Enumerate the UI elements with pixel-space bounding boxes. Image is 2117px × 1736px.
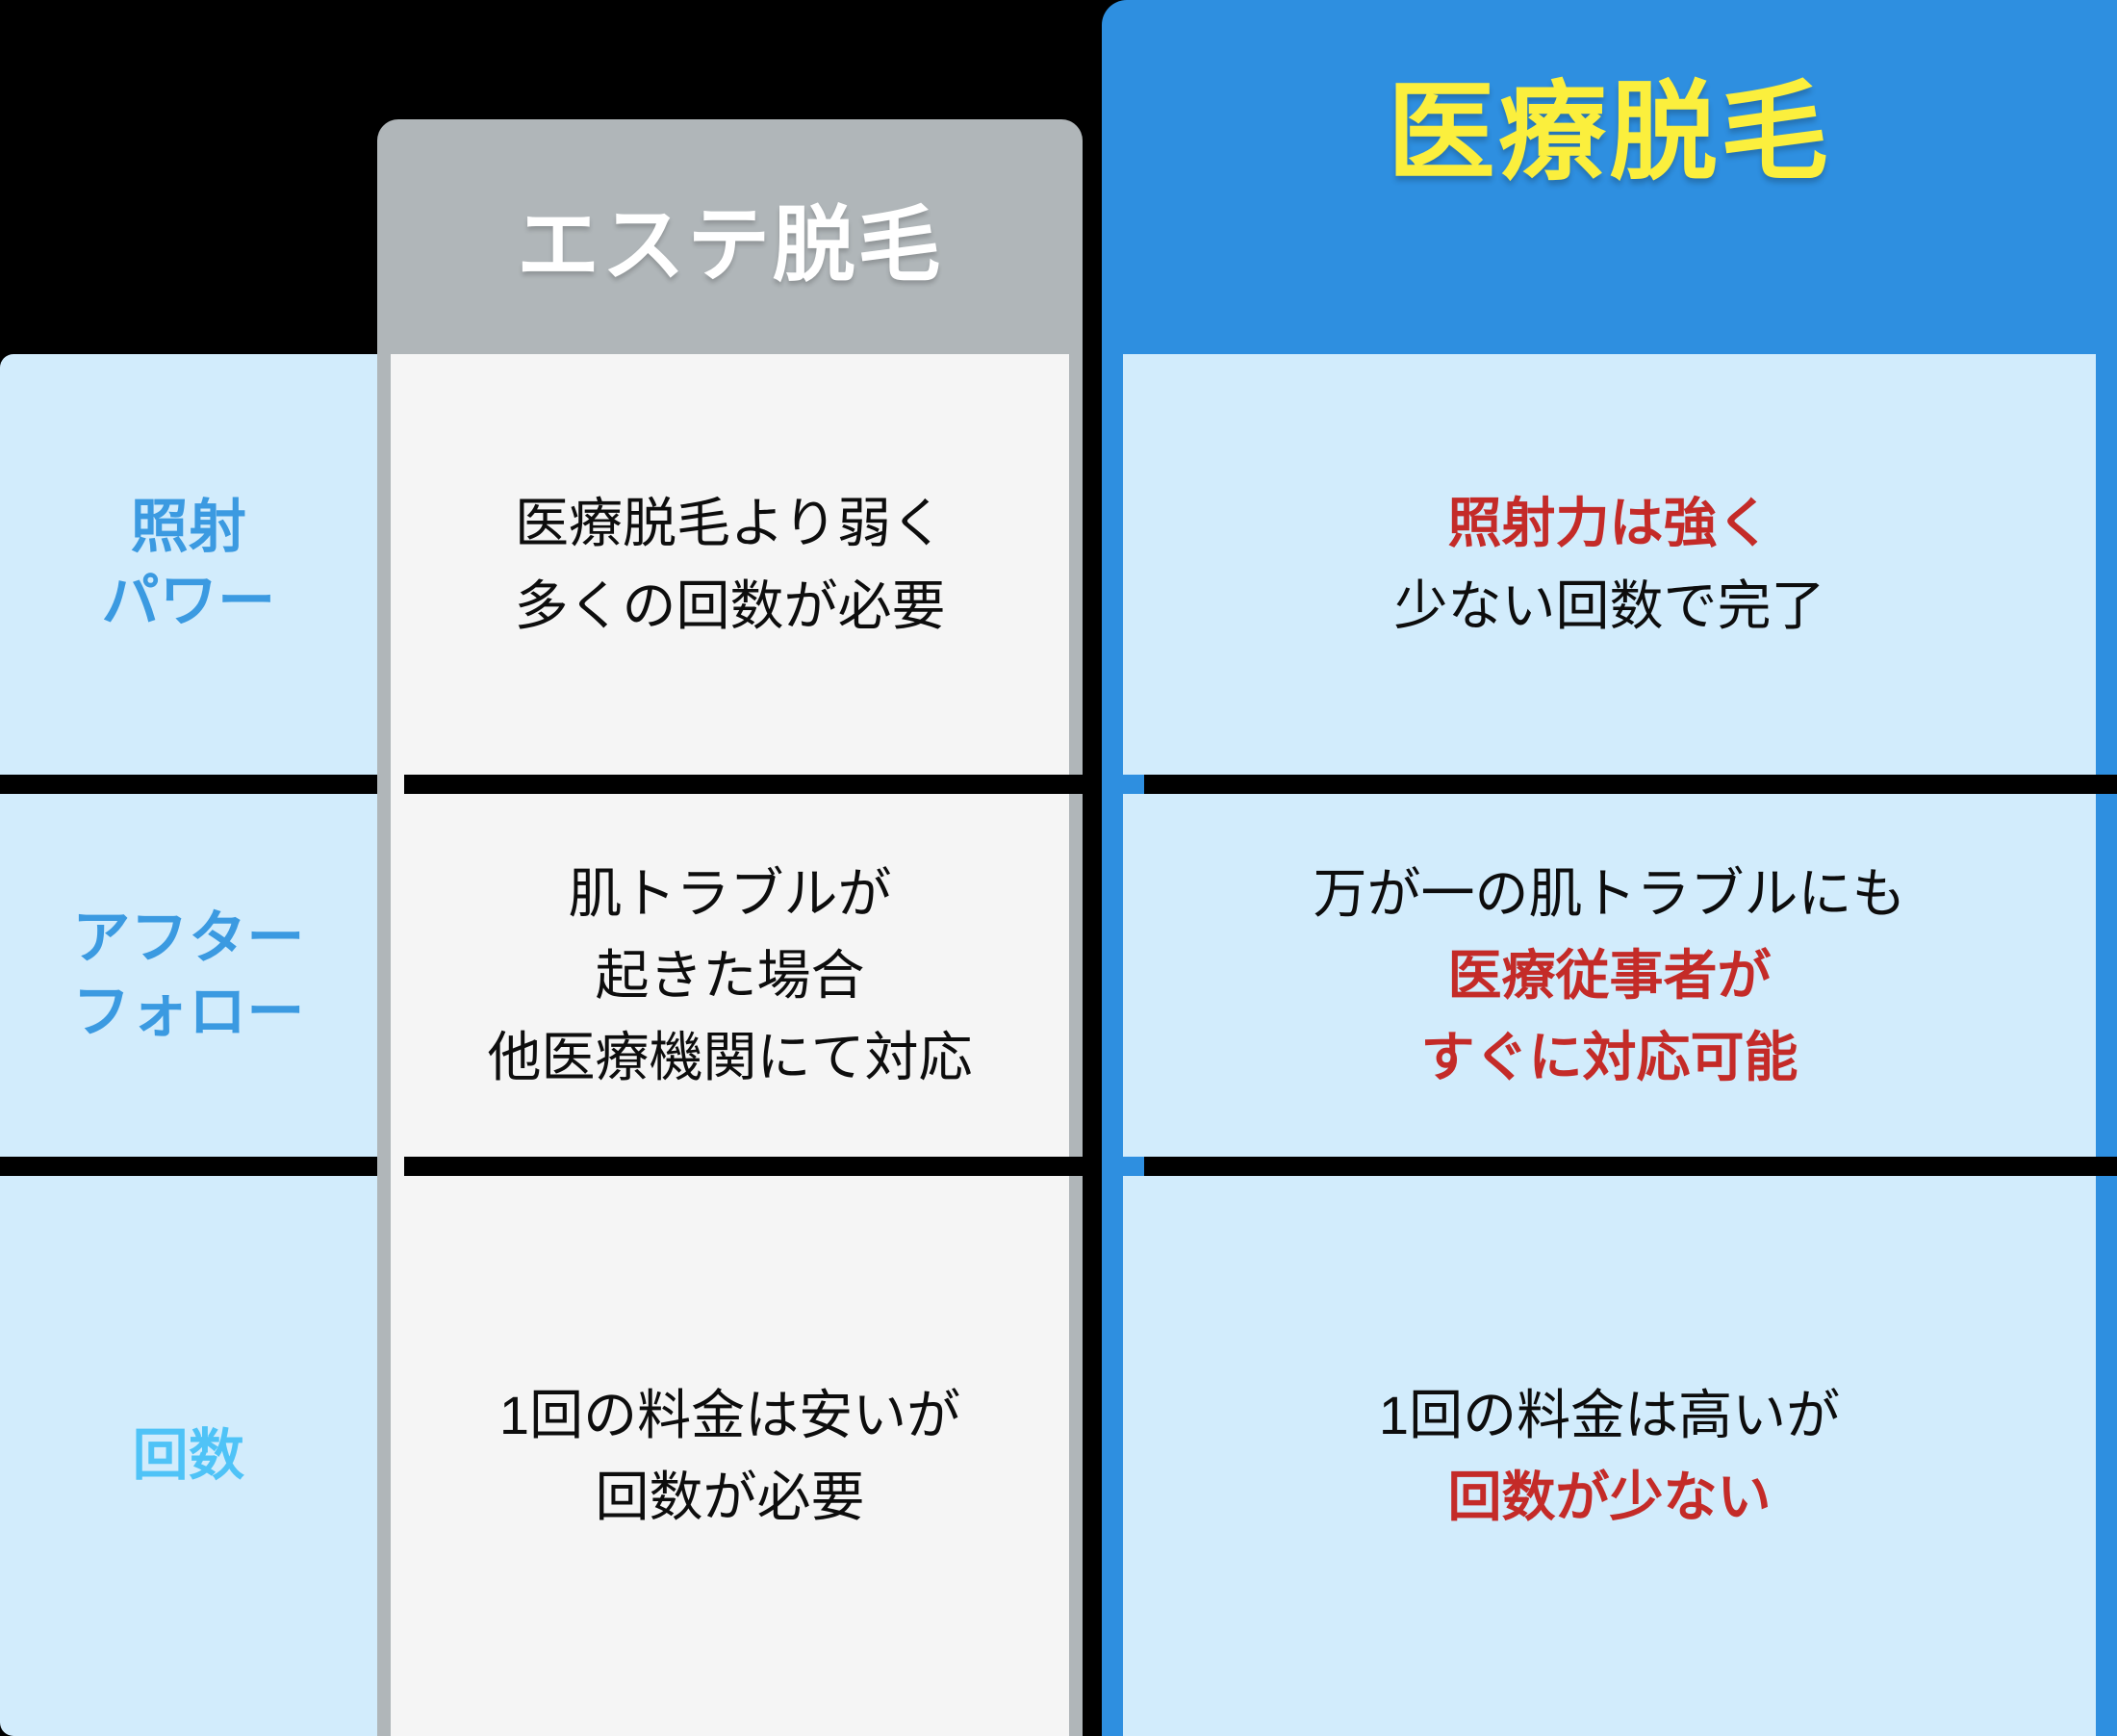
esthetic-header-text: エステ脱毛 bbox=[517, 177, 943, 297]
esthetic-cell-after-follow: 肌トラブルが 起きた場合 他医療機関にて対応 bbox=[391, 794, 1069, 1157]
row-label-line: パワー bbox=[102, 565, 276, 639]
medical-column-body: 照射力は強く 少ない回数で完了 万が一の肌トラブルにも 医療従事者が すぐに対応… bbox=[1102, 245, 2117, 1736]
cell-line: 多くの回数が必要 bbox=[515, 565, 946, 647]
row-separator bbox=[404, 1157, 1083, 1176]
cell-line: 1回の料金は安いが bbox=[499, 1374, 960, 1456]
row-label-after-follow: アフター フォロー bbox=[0, 794, 377, 1157]
row-label-line: 回数 bbox=[133, 1420, 245, 1492]
row-separator bbox=[0, 775, 377, 794]
cell-line: 他医療機関にて対応 bbox=[488, 1016, 973, 1098]
header-body-gap bbox=[1144, 245, 2117, 354]
cell-line: 回数が必要 bbox=[596, 1456, 865, 1538]
cell-line-highlight: 医療従事者が bbox=[1448, 934, 1772, 1016]
cell-line-highlight: 照射力は強く bbox=[1448, 482, 1772, 564]
row-label-text: 回数 bbox=[133, 1420, 245, 1492]
row-separator bbox=[0, 1157, 377, 1176]
row-label-column: 照射 パワー アフター フォロー 回数 bbox=[0, 354, 377, 1736]
row-label-line: フォロー bbox=[72, 976, 304, 1050]
row-label-line: 照射 bbox=[102, 491, 276, 565]
row-separator bbox=[1144, 775, 2117, 794]
esthetic-column-body: 医療脱毛より弱く 多くの回数が必要 肌トラブルが 起きた場合 他医療機関にて対応… bbox=[377, 354, 1083, 1736]
esthetic-column: エステ脱毛 医療脱毛より弱く 多くの回数が必要 肌トラブルが 起きた場合 他医療… bbox=[377, 119, 1083, 1736]
comparison-table: 照射 パワー アフター フォロー 回数 エステ脱毛 医療脱毛より弱く 多くの回数… bbox=[0, 0, 2117, 1736]
cell-line: 1回の料金は高いが bbox=[1379, 1374, 1840, 1456]
medical-column-header: 医療脱毛 bbox=[1102, 0, 2117, 245]
row-label-text: 照射 パワー bbox=[102, 491, 276, 639]
cell-line: 少ない回数で完了 bbox=[1394, 565, 1825, 647]
cell-line: 起きた場合 bbox=[596, 934, 865, 1016]
medical-cell-after-follow: 万が一の肌トラブルにも 医療従事者が すぐに対応可能 bbox=[1123, 794, 2096, 1157]
cell-line: 肌トラブルが bbox=[569, 853, 892, 934]
row-label-irradiation-power: 照射 パワー bbox=[0, 354, 377, 775]
medical-column: 医療脱毛 照射力は強く 少ない回数で完了 万が一の肌トラブルにも 医療従事者が … bbox=[1102, 0, 2117, 1736]
row-label-line: アフター bbox=[72, 902, 304, 976]
cell-line: 医療脱毛より弱く bbox=[515, 482, 945, 564]
row-label-text: アフター フォロー bbox=[72, 902, 304, 1050]
cell-line-highlight: 回数が少ない bbox=[1448, 1456, 1772, 1538]
cell-line: 万が一の肌トラブルにも bbox=[1314, 853, 1906, 934]
esthetic-cell-sessions: 1回の料金は安いが 回数が必要 bbox=[391, 1176, 1069, 1736]
medical-cell-irradiation-power: 照射力は強く 少ない回数で完了 bbox=[1123, 354, 2096, 775]
esthetic-column-header: エステ脱毛 bbox=[377, 119, 1083, 354]
row-separator bbox=[404, 775, 1083, 794]
medical-header-text: 医療脱毛 bbox=[1388, 45, 1831, 201]
cell-line-highlight: すぐに対応可能 bbox=[1421, 1016, 1798, 1098]
medical-cell-sessions: 1回の料金は高いが 回数が少ない bbox=[1123, 1176, 2096, 1736]
row-separator bbox=[1144, 1157, 2117, 1176]
esthetic-cell-irradiation-power: 医療脱毛より弱く 多くの回数が必要 bbox=[391, 354, 1069, 775]
row-label-sessions: 回数 bbox=[0, 1176, 377, 1736]
